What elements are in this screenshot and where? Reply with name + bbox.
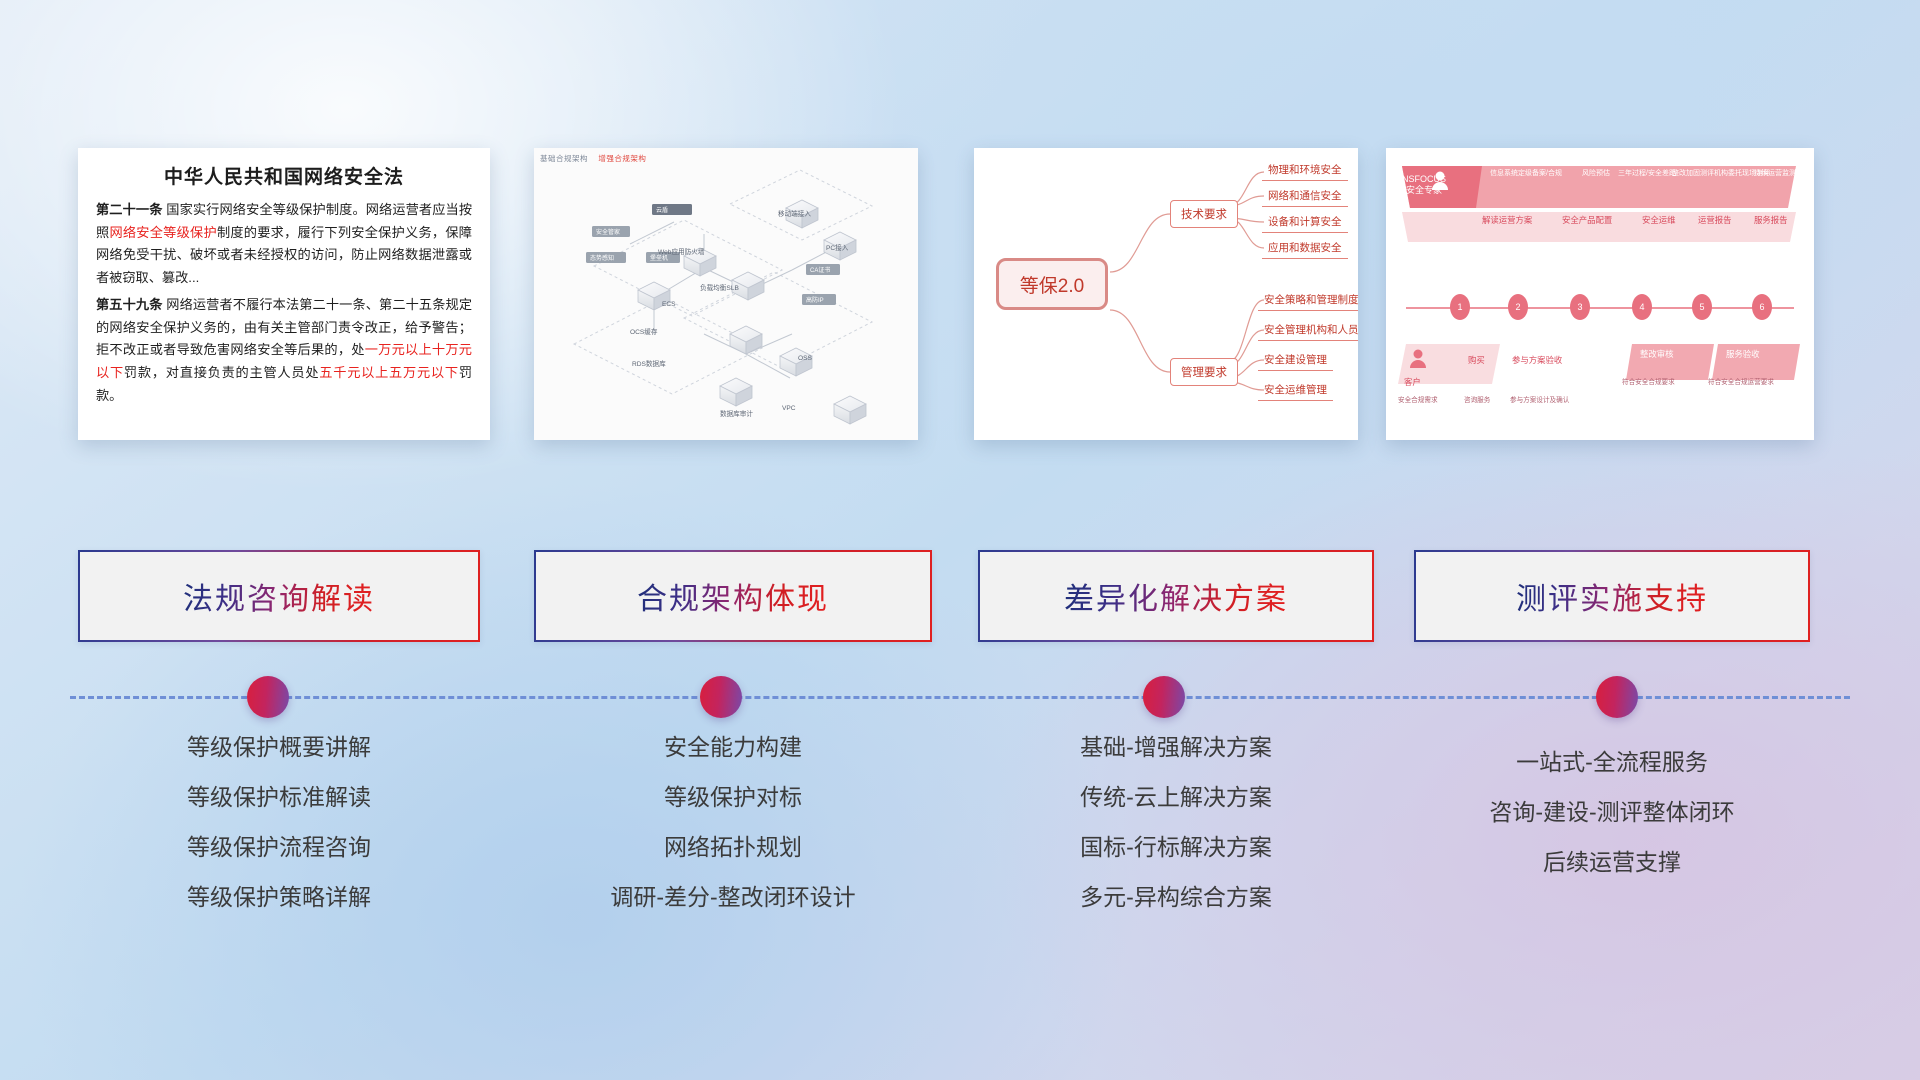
arch-text-pc: PC接入	[826, 243, 849, 252]
arch-text-web: Web应用防火墙	[658, 247, 705, 256]
nsfocus-bottom-note-1: 咨询服务	[1464, 394, 1490, 404]
nsfocus-service-timeline: NSFOCUS 安全专家 信息系统定级备案/合规 风险预估 三年过程/安全差距 …	[1386, 148, 1814, 440]
mindmap-branch-technical: 技术要求	[1170, 200, 1238, 228]
category-title-box-1[interactable]: 法规咨询解读	[78, 550, 480, 642]
list-item: 咨询-建设-测评整体闭环	[1414, 801, 1810, 824]
law-text-block: 中华人民共和国网络安全法 第二十一条 国家实行网络安全等级保护制度。网络运营者应…	[78, 148, 490, 421]
law-article-21-label: 第二十一条	[96, 202, 163, 217]
detail-list-1: 等级保护概要讲解 等级保护标准解读 等级保护流程咨询 等级保护策略详解	[78, 736, 480, 936]
nsfocus-top-tag-3: 整改加固	[1672, 168, 1700, 178]
poster-stage: 中华人民共和国网络安全法 第二十一条 国家实行网络安全等级保护制度。网络运营者应…	[0, 0, 1920, 1080]
nsfocus-bottom-note-3: 符合安全合规要求	[1622, 376, 1675, 386]
nsfocus-bottom-left-label: 客户	[1404, 376, 1421, 388]
list-item: 一站式-全流程服务	[1414, 751, 1810, 774]
arch-text-mobile: 移动端接入	[778, 209, 811, 218]
law-article-21-highlight: 网络安全等级保护	[109, 225, 217, 240]
mindmap-leaf-tech-2: 设备和计算安全	[1262, 214, 1348, 233]
architecture-isometric-svg: 安全管家 态势感知 云盾 CA证书 高防IP 堡垒机 Web应用防火墙	[534, 148, 918, 440]
arch-text-dbaudit: 数据库审计	[720, 409, 753, 418]
mindmap-branch-management-label: 管理要求	[1181, 367, 1227, 379]
arch-node-label-1: 态势感知	[590, 254, 614, 262]
list-item: 基础-增强解决方案	[978, 736, 1374, 759]
nsfocus-step-1: 1	[1450, 294, 1470, 320]
arch-node-label-3: CA证书	[810, 266, 830, 274]
arch-text-oss: OSS	[798, 355, 813, 362]
list-item: 多元-异构综合方案	[978, 886, 1374, 909]
nsfocus-row-tag-0: 解读运营方案	[1482, 214, 1532, 226]
list-item: 等级保护对标	[534, 786, 932, 809]
architecture-diagram: 基础合规架构 增强合规架构	[534, 148, 918, 440]
mindmap-branch-technical-label: 技术要求	[1181, 209, 1227, 221]
law-article-59-text-b: 罚款，对直接负责的主管人员处	[124, 365, 319, 380]
mindmap-leaf-mgmt-3: 安全运维管理	[1258, 382, 1333, 401]
list-item: 等级保护概要讲解	[78, 736, 480, 759]
arch-node-label-2: 云盾	[656, 207, 668, 214]
list-item: 国标-行标解决方案	[978, 836, 1374, 859]
card-dengbao-mindmap: 等保2.0 技术要求 管理要求 物理和环境安全 网络和通信安全 设备和计算安全 …	[974, 148, 1358, 440]
category-title-label-4: 测评实施支持	[1516, 574, 1708, 618]
nsfocus-brand: NSFOCUS 安全专家	[1402, 174, 1446, 197]
law-article-59: 第五十九条 网络运营者不履行本法第二十一条、第二十五条规定的网络安全保护义务的，…	[96, 294, 472, 408]
nsfocus-row-tag-4: 服务报告	[1754, 214, 1788, 226]
nsfocus-bottom-note-4: 符合安全合规运营要求	[1708, 376, 1774, 386]
list-item: 传统-云上解决方案	[978, 786, 1374, 809]
list-item: 网络拓扑规划	[534, 836, 932, 859]
category-title-box-2[interactable]: 合规架构体现	[534, 550, 932, 642]
mindmap-branch-management: 管理要求	[1170, 358, 1238, 386]
nsfocus-bottom-tag-1: 参与方案验收	[1512, 354, 1562, 366]
nsfocus-bottom-tag-0: 购买	[1468, 354, 1485, 366]
image-card-row: 中华人民共和国网络安全法 第二十一条 国家实行网络安全等级保护制度。网络运营者应…	[0, 148, 1920, 440]
nsfocus-row-tag-2: 安全运维	[1642, 214, 1676, 226]
list-item: 等级保护流程咨询	[78, 836, 480, 859]
arch-node-label-4: 高防IP	[806, 296, 824, 304]
timeline-dashed-line	[70, 696, 1850, 699]
mindmap-leaf-tech-3: 应用和数据安全	[1262, 240, 1348, 259]
nsfocus-top-tag-5: 持续运营监测整改优化	[1754, 168, 1814, 178]
nsfocus-step-3: 3	[1570, 294, 1590, 320]
detail-list-2: 安全能力构建 等级保护对标 网络拓扑规划 调研-差分-整改闭环设计	[534, 736, 932, 936]
mindmap-leaf-mgmt-1: 安全管理机构和人员	[1258, 322, 1358, 341]
category-title-box-3[interactable]: 差异化解决方案	[978, 550, 1374, 642]
nsfocus-bottom-note-2: 参与方案设计及确认	[1510, 394, 1569, 404]
nsfocus-brand-subtitle: 安全专家	[1402, 185, 1446, 196]
nsfocus-bottom-tag-2: 整改审核	[1640, 348, 1674, 360]
timeline-dot-1[interactable]	[247, 676, 289, 718]
law-article-59-label: 第五十九条	[96, 297, 163, 312]
law-title: 中华人民共和国网络安全法	[96, 162, 472, 189]
mindmap-leaf-mgmt-2: 安全建设管理	[1258, 352, 1333, 371]
architecture-legend: 基础合规架构 增强合规架构	[540, 153, 646, 164]
mindmap-root-node: 等保2.0	[996, 258, 1108, 310]
timeline-dot-3[interactable]	[1143, 676, 1185, 718]
category-title-row: 法规咨询解读 合规架构体现 差异化解决方案 测评实施支持	[0, 550, 1920, 650]
mindmap-leaf-tech-1: 网络和通信安全	[1262, 188, 1348, 207]
category-title-label-1: 法规咨询解读	[183, 574, 375, 618]
nsfocus-top-tag-1: 风险预估	[1582, 168, 1610, 178]
law-article-21: 第二十一条 国家实行网络安全等级保护制度。网络运营者应当按照网络安全等级保护制度…	[96, 199, 472, 290]
card-cybersecurity-law: 中华人民共和国网络安全法 第二十一条 国家实行网络安全等级保护制度。网络运营者应…	[78, 148, 490, 440]
list-item: 安全能力构建	[534, 736, 932, 759]
nsfocus-brand-name: NSFOCUS	[1402, 174, 1446, 185]
nsfocus-step-5: 5	[1692, 294, 1712, 320]
category-title-box-4[interactable]: 测评实施支持	[1414, 550, 1810, 642]
nsfocus-bottom-note-0: 安全合规需求	[1398, 394, 1438, 404]
list-item: 等级保护策略详解	[78, 886, 480, 909]
nsfocus-row-tag-3: 运营报告	[1698, 214, 1732, 226]
arch-text-ecs: ECS	[662, 301, 676, 308]
detail-list-4: 一站式-全流程服务 咨询-建设-测评整体闭环 后续运营支撑	[1414, 736, 1810, 901]
arch-text-ocs: OCS缓存	[630, 327, 658, 336]
timeline-dot-2[interactable]	[700, 676, 742, 718]
category-title-label-3: 差异化解决方案	[1064, 574, 1288, 618]
architecture-legend-basic: 基础合规架构	[540, 154, 588, 163]
architecture-legend-enhanced: 增强合规架构	[598, 154, 646, 163]
category-title-label-2: 合规架构体现	[637, 574, 829, 618]
nsfocus-step-4: 4	[1632, 294, 1652, 320]
list-item: 调研-差分-整改闭环设计	[534, 886, 932, 909]
card-compliance-architecture: 基础合规架构 增强合规架构	[534, 148, 918, 440]
law-fine-range-2: 五千元以上五万元以下	[319, 365, 459, 380]
nsfocus-step-6: 6	[1752, 294, 1772, 320]
card-nsfocus-timeline: NSFOCUS 安全专家 信息系统定级备案/合规 风险预估 三年过程/安全差距 …	[1386, 148, 1814, 440]
nsfocus-bottom-tag-3: 服务验收	[1726, 348, 1760, 360]
nsfocus-top-tag-0: 信息系统定级备案/合规	[1490, 168, 1562, 178]
arch-text-rds: RDS数据库	[632, 359, 666, 368]
arch-text-vpc: VPC	[782, 405, 796, 412]
timeline-dot-4[interactable]	[1596, 676, 1638, 718]
nsfocus-top-tag-2: 三年过程/安全差距	[1618, 168, 1676, 178]
mindmap-leaf-tech-0: 物理和环境安全	[1262, 162, 1348, 181]
arch-text-slb: 负载均衡SLB	[700, 283, 739, 292]
detail-list-row: 等级保护概要讲解 等级保护标准解读 等级保护流程咨询 等级保护策略详解 安全能力…	[0, 736, 1920, 996]
list-item: 后续运营支撑	[1414, 851, 1810, 874]
detail-list-3: 基础-增强解决方案 传统-云上解决方案 国标-行标解决方案 多元-异构综合方案	[978, 736, 1374, 936]
list-item: 等级保护标准解读	[78, 786, 480, 809]
mindmap: 等保2.0 技术要求 管理要求 物理和环境安全 网络和通信安全 设备和计算安全 …	[974, 148, 1358, 440]
mindmap-leaf-mgmt-0: 安全策略和管理制度	[1258, 292, 1358, 311]
arch-node-label-0: 安全管家	[596, 228, 620, 236]
mindmap-root-label: 等保2.0	[1020, 271, 1084, 298]
nsfocus-step-2: 2	[1508, 294, 1528, 320]
nsfocus-row-tag-1: 安全产品配置	[1562, 214, 1612, 226]
